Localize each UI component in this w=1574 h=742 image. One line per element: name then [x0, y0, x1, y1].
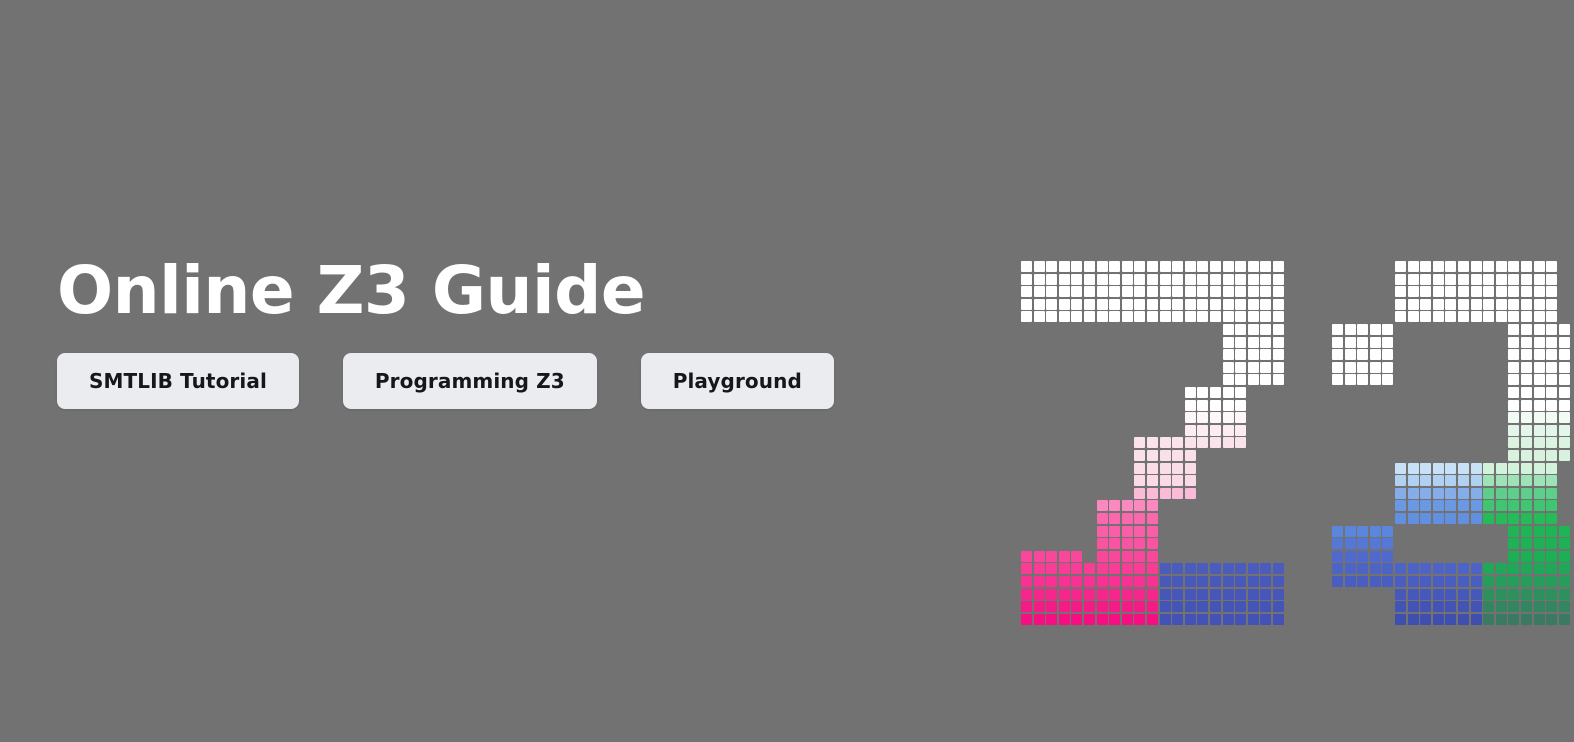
logo-pixel: [1210, 286, 1221, 297]
logo-pixel: [1260, 614, 1271, 625]
logo-pixel: [1109, 274, 1120, 285]
logo-pixel: [1147, 576, 1158, 587]
logo-pixel: [1071, 551, 1082, 562]
logo-pixel: [1521, 400, 1532, 411]
logo-pixel: [1496, 601, 1507, 612]
logo-pixel: [1332, 563, 1343, 574]
smtlib-tutorial-button[interactable]: SMTLIB Tutorial: [57, 353, 299, 409]
logo-pixel: [1395, 274, 1406, 285]
logo-pixel: [1172, 437, 1183, 448]
logo-pixel: [1210, 563, 1221, 574]
logo-pixel: [1408, 500, 1419, 511]
logo-pixel: [1223, 337, 1234, 348]
logo-pixel: [1021, 589, 1032, 600]
logo-pixel: [1122, 551, 1133, 562]
logo-pixel: [1508, 513, 1519, 524]
logo-pixel: [1122, 576, 1133, 587]
logo-pixel: [1046, 563, 1057, 574]
logo-pixel: [1147, 311, 1158, 322]
logo-pixel: [1395, 286, 1406, 297]
logo-pixel: [1134, 526, 1145, 537]
logo-pixel: [1147, 488, 1158, 499]
logo-pixel: [1260, 374, 1271, 385]
logo-pixel: [1248, 324, 1259, 335]
logo-pixel: [1097, 274, 1108, 285]
logo-pixel: [1546, 551, 1557, 562]
logo-pixel: [1122, 274, 1133, 285]
logo-pixel: [1172, 576, 1183, 587]
logo-pixel: [1185, 589, 1196, 600]
logo-pixel: [1235, 563, 1246, 574]
logo-pixel: [1134, 450, 1145, 461]
logo-pixel: [1408, 274, 1419, 285]
logo-pixel: [1357, 526, 1368, 537]
logo-pixel: [1445, 601, 1456, 612]
logo-pixel: [1521, 412, 1532, 423]
logo-pixel: [1332, 576, 1343, 587]
logo-pixel: [1273, 337, 1284, 348]
logo-pixel: [1496, 311, 1507, 322]
logo-pixel: [1508, 261, 1519, 272]
logo-pixel: [1483, 563, 1494, 574]
logo-pixel: [1071, 274, 1082, 285]
logo-pixel: [1122, 500, 1133, 511]
logo-pixel: [1223, 362, 1234, 373]
logo-pixel: [1345, 526, 1356, 537]
logo-pixel: [1235, 425, 1246, 436]
logo-pixel: [1210, 387, 1221, 398]
logo-pixel: [1546, 488, 1557, 499]
logo-pixel: [1458, 261, 1469, 272]
logo-pixel: [1109, 576, 1120, 587]
logo-pixel: [1223, 299, 1234, 310]
logo-pixel: [1521, 551, 1532, 562]
logo-pixel: [1508, 551, 1519, 562]
logo-pixel: [1483, 274, 1494, 285]
logo-pixel: [1160, 475, 1171, 486]
logo-pixel: [1496, 299, 1507, 310]
logo-pixel: [1223, 601, 1234, 612]
logo-pixel: [1382, 538, 1393, 549]
logo-pixel: [1223, 274, 1234, 285]
logo-pixel: [1109, 589, 1120, 600]
logo-pixel: [1071, 576, 1082, 587]
logo-pixel: [1546, 261, 1557, 272]
logo-pixel: [1160, 286, 1171, 297]
logo-pixel: [1059, 551, 1070, 562]
logo-pixel: [1185, 614, 1196, 625]
logo-pixel: [1134, 551, 1145, 562]
logo-pixel: [1160, 614, 1171, 625]
logo-pixel: [1496, 463, 1507, 474]
logo-pixel: [1109, 601, 1120, 612]
logo-pixel: [1160, 589, 1171, 600]
logo-pixel: [1508, 299, 1519, 310]
logo-pixel: [1071, 286, 1082, 297]
logo-pixel: [1357, 551, 1368, 562]
logo-pixel: [1248, 299, 1259, 310]
logo-pixel: [1185, 450, 1196, 461]
logo-pixel: [1546, 576, 1557, 587]
logo-pixel: [1273, 349, 1284, 360]
logo-pixel: [1458, 500, 1469, 511]
logo-pixel: [1534, 551, 1545, 562]
logo-pixel: [1046, 614, 1057, 625]
logo-pixel: [1508, 387, 1519, 398]
logo-pixel: [1160, 563, 1171, 574]
logo-pixel: [1097, 311, 1108, 322]
logo-pixel: [1223, 374, 1234, 385]
logo-pixel: [1147, 500, 1158, 511]
logo-pixel: [1235, 387, 1246, 398]
logo-pixel: [1483, 601, 1494, 612]
logo-pixel: [1172, 614, 1183, 625]
logo-pixel: [1046, 576, 1057, 587]
logo-pixel: [1559, 412, 1570, 423]
logo-pixel: [1508, 286, 1519, 297]
logo-pixel: [1445, 261, 1456, 272]
logo-pixel: [1147, 601, 1158, 612]
logo-pixel: [1248, 337, 1259, 348]
logo-pixel: [1059, 311, 1070, 322]
logo-pixel: [1134, 463, 1145, 474]
logo-pixel: [1122, 614, 1133, 625]
logo-pixel: [1559, 614, 1570, 625]
logo-pixel: [1534, 311, 1545, 322]
logo-pixel: [1210, 601, 1221, 612]
logo-pixel: [1059, 589, 1070, 600]
logo-pixel: [1172, 311, 1183, 322]
logo-pixel: [1223, 589, 1234, 600]
logo-pixel: [1445, 500, 1456, 511]
logo-pixel: [1160, 274, 1171, 285]
logo-pixel: [1408, 261, 1419, 272]
logo-pixel: [1273, 324, 1284, 335]
logo-pixel: [1471, 563, 1482, 574]
logo-pixel: [1445, 614, 1456, 625]
logo-pixel: [1408, 299, 1419, 310]
logo-pixel: [1534, 299, 1545, 310]
logo-pixel: [1235, 324, 1246, 335]
logo-pixel: [1471, 601, 1482, 612]
logo-pixel: [1483, 589, 1494, 600]
logo-pixel: [1458, 274, 1469, 285]
logo-pixel: [1508, 311, 1519, 322]
logo-pixel: [1382, 337, 1393, 348]
logo-pixel: [1508, 374, 1519, 385]
logo-pixel: [1483, 488, 1494, 499]
logo-pixel: [1021, 601, 1032, 612]
logo-pixel: [1445, 576, 1456, 587]
logo-pixel: [1034, 286, 1045, 297]
logo-pixel: [1097, 513, 1108, 524]
logo-pixel: [1420, 589, 1431, 600]
logo-pixel: [1508, 450, 1519, 461]
logo-pixel: [1395, 261, 1406, 272]
logo-pixel: [1084, 601, 1095, 612]
logo-pixel: [1370, 374, 1381, 385]
logo-pixel: [1408, 286, 1419, 297]
logo-pixel: [1235, 299, 1246, 310]
logo-pixel: [1210, 274, 1221, 285]
logo-pixel: [1046, 299, 1057, 310]
logo-pixel: [1345, 362, 1356, 373]
logo-pixel: [1496, 488, 1507, 499]
logo-pixel: [1097, 589, 1108, 600]
logo-pixel: [1521, 286, 1532, 297]
logo-pixel: [1210, 311, 1221, 322]
logo-pixel: [1071, 589, 1082, 600]
logo-pixel: [1483, 614, 1494, 625]
logo-pixel: [1496, 513, 1507, 524]
logo-pixel: [1210, 425, 1221, 436]
logo-pixel: [1223, 614, 1234, 625]
logo-pixel: [1235, 601, 1246, 612]
logo-pixel: [1546, 538, 1557, 549]
logo-pixel: [1172, 463, 1183, 474]
logo-pixel: [1345, 374, 1356, 385]
logo-pixel: [1496, 500, 1507, 511]
logo-pixel: [1534, 324, 1545, 335]
logo-pixel: [1382, 576, 1393, 587]
logo-pixel: [1433, 601, 1444, 612]
logo-pixel: [1471, 500, 1482, 511]
logo-pixel: [1496, 261, 1507, 272]
logo-pixel: [1197, 601, 1208, 612]
logo-pixel: [1260, 311, 1271, 322]
logo-pixel: [1197, 412, 1208, 423]
logo-pixel: [1122, 589, 1133, 600]
logo-pixel: [1559, 425, 1570, 436]
logo-pixel: [1260, 299, 1271, 310]
logo-pixel: [1235, 576, 1246, 587]
logo-pixel: [1109, 563, 1120, 574]
logo-pixel: [1235, 286, 1246, 297]
logo-pixel: [1521, 475, 1532, 486]
programming-z3-button[interactable]: Programming Z3: [343, 353, 597, 409]
logo-pixel: [1445, 513, 1456, 524]
logo-pixel: [1134, 513, 1145, 524]
logo-pixel: [1260, 349, 1271, 360]
logo-pixel: [1357, 538, 1368, 549]
logo-pixel: [1395, 601, 1406, 612]
logo-pixel: [1546, 349, 1557, 360]
logo-pixel: [1235, 374, 1246, 385]
logo-pixel: [1546, 500, 1557, 511]
logo-pixel: [1521, 589, 1532, 600]
logo-pixel: [1395, 299, 1406, 310]
logo-pixel: [1109, 538, 1120, 549]
logo-pixel: [1260, 601, 1271, 612]
logo-pixel: [1185, 400, 1196, 411]
logo-pixel: [1197, 576, 1208, 587]
logo-pixel: [1458, 601, 1469, 612]
logo-pixel: [1370, 349, 1381, 360]
logo-pixel: [1097, 500, 1108, 511]
logo-pixel: [1248, 274, 1259, 285]
logo-pixel: [1458, 614, 1469, 625]
logo-pixel: [1546, 475, 1557, 486]
logo-pixel: [1071, 299, 1082, 310]
logo-pixel: [1185, 576, 1196, 587]
logo-pixel: [1546, 614, 1557, 625]
logo-pixel: [1109, 614, 1120, 625]
logo-pixel: [1483, 261, 1494, 272]
logo-pixel: [1059, 299, 1070, 310]
logo-pixel: [1134, 563, 1145, 574]
logo-pixel: [1134, 274, 1145, 285]
logo-pixel: [1521, 425, 1532, 436]
logo-pixel: [1034, 576, 1045, 587]
logo-pixel: [1395, 614, 1406, 625]
logo-pixel: [1223, 311, 1234, 322]
logo-pixel: [1521, 311, 1532, 322]
logo-pixel: [1445, 475, 1456, 486]
logo-pixel: [1046, 274, 1057, 285]
logo-pixel: [1357, 563, 1368, 574]
logo-pixel: [1471, 311, 1482, 322]
logo-pixel: [1420, 463, 1431, 474]
logo-pixel: [1059, 563, 1070, 574]
logo-pixel: [1172, 261, 1183, 272]
logo-pixel: [1370, 362, 1381, 373]
logo-pixel: [1408, 601, 1419, 612]
logo-pixel: [1433, 563, 1444, 574]
logo-pixel: [1370, 337, 1381, 348]
logo-pixel: [1534, 349, 1545, 360]
logo-pixel: [1185, 311, 1196, 322]
logo-pixel: [1496, 475, 1507, 486]
logo-pixel: [1445, 463, 1456, 474]
logo-pixel: [1458, 311, 1469, 322]
logo-pixel: [1420, 311, 1431, 322]
logo-pixel: [1496, 589, 1507, 600]
logo-pixel: [1021, 311, 1032, 322]
logo-pixel: [1122, 601, 1133, 612]
logo-pixel: [1273, 311, 1284, 322]
logo-pixel: [1395, 500, 1406, 511]
logo-pixel: [1172, 299, 1183, 310]
logo-pixel: [1109, 286, 1120, 297]
logo-pixel: [1534, 500, 1545, 511]
logo-pixel: [1420, 286, 1431, 297]
logo-pixel: [1420, 513, 1431, 524]
logo-pixel: [1172, 475, 1183, 486]
logo-pixel: [1122, 261, 1133, 272]
logo-pixel: [1071, 311, 1082, 322]
logo-pixel: [1034, 601, 1045, 612]
logo-pixel: [1357, 337, 1368, 348]
logo-pixel: [1273, 261, 1284, 272]
logo-pixel: [1147, 437, 1158, 448]
logo-pixel: [1248, 614, 1259, 625]
logo-pixel: [1546, 526, 1557, 537]
logo-pixel: [1260, 337, 1271, 348]
logo-pixel: [1185, 299, 1196, 310]
logo-pixel: [1521, 563, 1532, 574]
logo-pixel: [1471, 513, 1482, 524]
logo-pixel: [1420, 576, 1431, 587]
logo-pixel: [1395, 589, 1406, 600]
logo-pixel: [1546, 463, 1557, 474]
logo-pixel: [1109, 513, 1120, 524]
logo-pixel: [1223, 261, 1234, 272]
logo-pixel: [1185, 274, 1196, 285]
logo-pixel: [1559, 526, 1570, 537]
logo-pixel: [1172, 286, 1183, 297]
logo-pixel: [1210, 299, 1221, 310]
logo-pixel: [1521, 349, 1532, 360]
logo-pixel: [1433, 274, 1444, 285]
logo-pixel: [1521, 450, 1532, 461]
logo-pixel: [1197, 425, 1208, 436]
logo-pixel: [1433, 589, 1444, 600]
logo-pixel: [1197, 274, 1208, 285]
logo-pixel: [1420, 299, 1431, 310]
logo-pixel: [1109, 526, 1120, 537]
logo-pixel: [1034, 614, 1045, 625]
logo-pixel: [1546, 286, 1557, 297]
logo-pixel: [1408, 488, 1419, 499]
logo-pixel: [1273, 601, 1284, 612]
logo-pixel: [1471, 261, 1482, 272]
logo-pixel: [1046, 261, 1057, 272]
logo-pixel: [1458, 563, 1469, 574]
logo-pixel: [1185, 437, 1196, 448]
logo-pixel: [1071, 601, 1082, 612]
logo-pixel: [1420, 614, 1431, 625]
logo-pixel: [1508, 349, 1519, 360]
playground-button[interactable]: Playground: [641, 353, 834, 409]
logo-pixel: [1508, 614, 1519, 625]
logo-pixel: [1508, 437, 1519, 448]
logo-pixel: [1046, 589, 1057, 600]
logo-pixel: [1235, 362, 1246, 373]
logo-pixel: [1433, 500, 1444, 511]
logo-pixel: [1160, 311, 1171, 322]
logo-pixel: [1382, 324, 1393, 335]
logo-pixel: [1235, 400, 1246, 411]
logo-pixel: [1185, 412, 1196, 423]
logo-pixel: [1521, 614, 1532, 625]
logo-pixel: [1496, 563, 1507, 574]
logo-pixel: [1471, 488, 1482, 499]
logo-pixel: [1546, 601, 1557, 612]
logo-pixel: [1235, 437, 1246, 448]
logo-pixel: [1160, 488, 1171, 499]
logo-pixel: [1185, 601, 1196, 612]
logo-pixel: [1235, 614, 1246, 625]
logo-pixel: [1248, 563, 1259, 574]
logo-pixel: [1559, 563, 1570, 574]
logo-pixel: [1471, 614, 1482, 625]
logo-pixel: [1534, 463, 1545, 474]
logo-pixel: [1197, 589, 1208, 600]
logo-pixel: [1134, 538, 1145, 549]
logo-pixel: [1559, 601, 1570, 612]
logo-pixel: [1408, 576, 1419, 587]
logo-pixel: [1534, 425, 1545, 436]
logo-pixel: [1134, 261, 1145, 272]
logo-pixel: [1034, 563, 1045, 574]
logo-pixel: [1521, 387, 1532, 398]
logo-pixel: [1223, 286, 1234, 297]
logo-pixel: [1147, 513, 1158, 524]
logo-pixel: [1433, 475, 1444, 486]
logo-pixel: [1223, 349, 1234, 360]
logo-pixel: [1021, 576, 1032, 587]
logo-pixel: [1147, 475, 1158, 486]
